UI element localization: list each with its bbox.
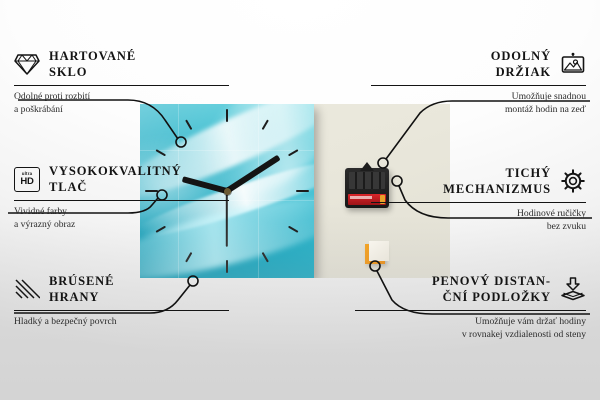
feature-desc-line: Umožňuje snadnou [371,91,586,104]
feature-desc-line: Hodinové ručičky [371,208,586,221]
feature-silent-mechanism[interactable]: TICHÝ MECHANIZMUS Hodinové ručičky bez z… [371,165,586,234]
feature-title-line: HARTOVANÉ [49,48,136,64]
clock-tick [185,119,192,130]
feature-title-line: ODOLNÝ [491,48,551,64]
foam-pad-shadow [369,241,389,261]
feature-title: BRÚSENÉ HRANY [49,273,114,305]
feature-title-line: SKLO [49,64,136,80]
feature-header: BRÚSENÉ HRANY [14,273,229,305]
feature-foam-spacers[interactable]: PENOVÝ DISTAN- ČNÍ PODLOŽKY Umožňuje vám… [355,273,586,342]
feature-divider [355,310,586,311]
feature-description: Hladký a bezpečný povrch [14,316,229,329]
feature-description: Umožňuje vám držať hodiny v rovnakej vzd… [355,316,586,342]
feature-desc-line: Hladký a bezpečný povrch [14,316,229,329]
clock-grid-line [140,150,314,151]
clock-grid-line [258,104,259,278]
feature-desc-line: v rovnakej vzdialenosti od steny [355,329,586,342]
feature-desc-line: Odolné proti rozbití [14,91,229,104]
feature-header: ultra HD VYSOKOKVALITNÝ TLAČ [14,163,229,195]
feature-title: ODOLNÝ DRŽIAK [491,48,551,80]
feature-desc-line: a výrazný obraz [14,219,229,232]
feature-header: HARTOVANÉ SKLO [14,48,229,80]
press-down-icon [560,276,586,302]
feature-hd-print[interactable]: ultra HD VYSOKOKVALITNÝ TLAČ Vividné far… [14,163,229,232]
feature-divider [14,85,229,86]
feature-title: HARTOVANÉ SKLO [49,48,136,80]
feature-title: PENOVÝ DISTAN- ČNÍ PODLOŽKY [432,273,551,305]
feature-title-line: TLAČ [49,179,182,195]
feature-divider [14,200,229,201]
feature-title-line: MECHANIZMUS [443,181,551,197]
foam-spacer-pad [365,244,385,264]
feature-tempered-glass[interactable]: HARTOVANÉ SKLO Odolné proti rozbití a po… [14,48,229,117]
feature-header: PENOVÝ DISTAN- ČNÍ PODLOŽKY [355,273,586,305]
feature-title-line: PENOVÝ DISTAN- [432,273,551,289]
feature-title-line: VYSOKOKVALITNÝ [49,163,182,179]
battery-label [350,196,372,199]
clock-tick [296,190,309,192]
ultra-hd-icon-main-text: HD [20,177,33,187]
feature-title-line: TICHÝ [443,165,551,181]
feature-title-line: ČNÍ PODLOŽKY [432,289,551,305]
product-infographic: HARTOVANÉ SKLO Odolné proti rozbití a po… [0,0,600,400]
feature-description: Odolné proti rozbití a poškrábání [14,91,229,117]
feature-description: Umožňuje snadnou montáž hodin na zeď [371,91,586,117]
ultra-hd-icon: ultra HD [14,166,40,192]
feature-title-line: DRŽIAK [491,64,551,80]
feature-desc-line: montáž hodin na zeď [371,104,586,117]
feature-desc-line: bez zvuku [371,221,586,234]
feature-durable-holder[interactable]: ODOLNÝ DRŽIAK Umožňuje snadnou montáž ho… [371,48,586,117]
gear-icon [560,168,586,194]
clock-tick [226,260,228,273]
feature-desc-line: a poškrábání [14,104,229,117]
feature-polished-edges[interactable]: BRÚSENÉ HRANY Hladký a bezpečný povrch [14,273,229,329]
feature-header: TICHÝ MECHANIZMUS [371,165,586,197]
feature-description: Hodinové ručičky bez zvuku [371,208,586,234]
feature-title: VYSOKOKVALITNÝ TLAČ [49,163,182,195]
polished-edges-icon [14,276,40,302]
diamond-icon [14,51,40,77]
feature-description: Vividné farby a výrazný obraz [14,206,229,232]
picture-frame-icon [560,51,586,77]
feature-desc-line: Vividné farby [14,206,229,219]
feature-desc-line: Umožňuje vám držať hodiny [355,316,586,329]
feature-title: TICHÝ MECHANIZMUS [443,165,551,197]
feature-title-line: HRANY [49,289,114,305]
feature-divider [14,310,229,311]
feature-title-line: BRÚSENÉ [49,273,114,289]
feature-divider [371,202,586,203]
feature-divider [371,85,586,86]
feature-header: ODOLNÝ DRŽIAK [371,48,586,80]
